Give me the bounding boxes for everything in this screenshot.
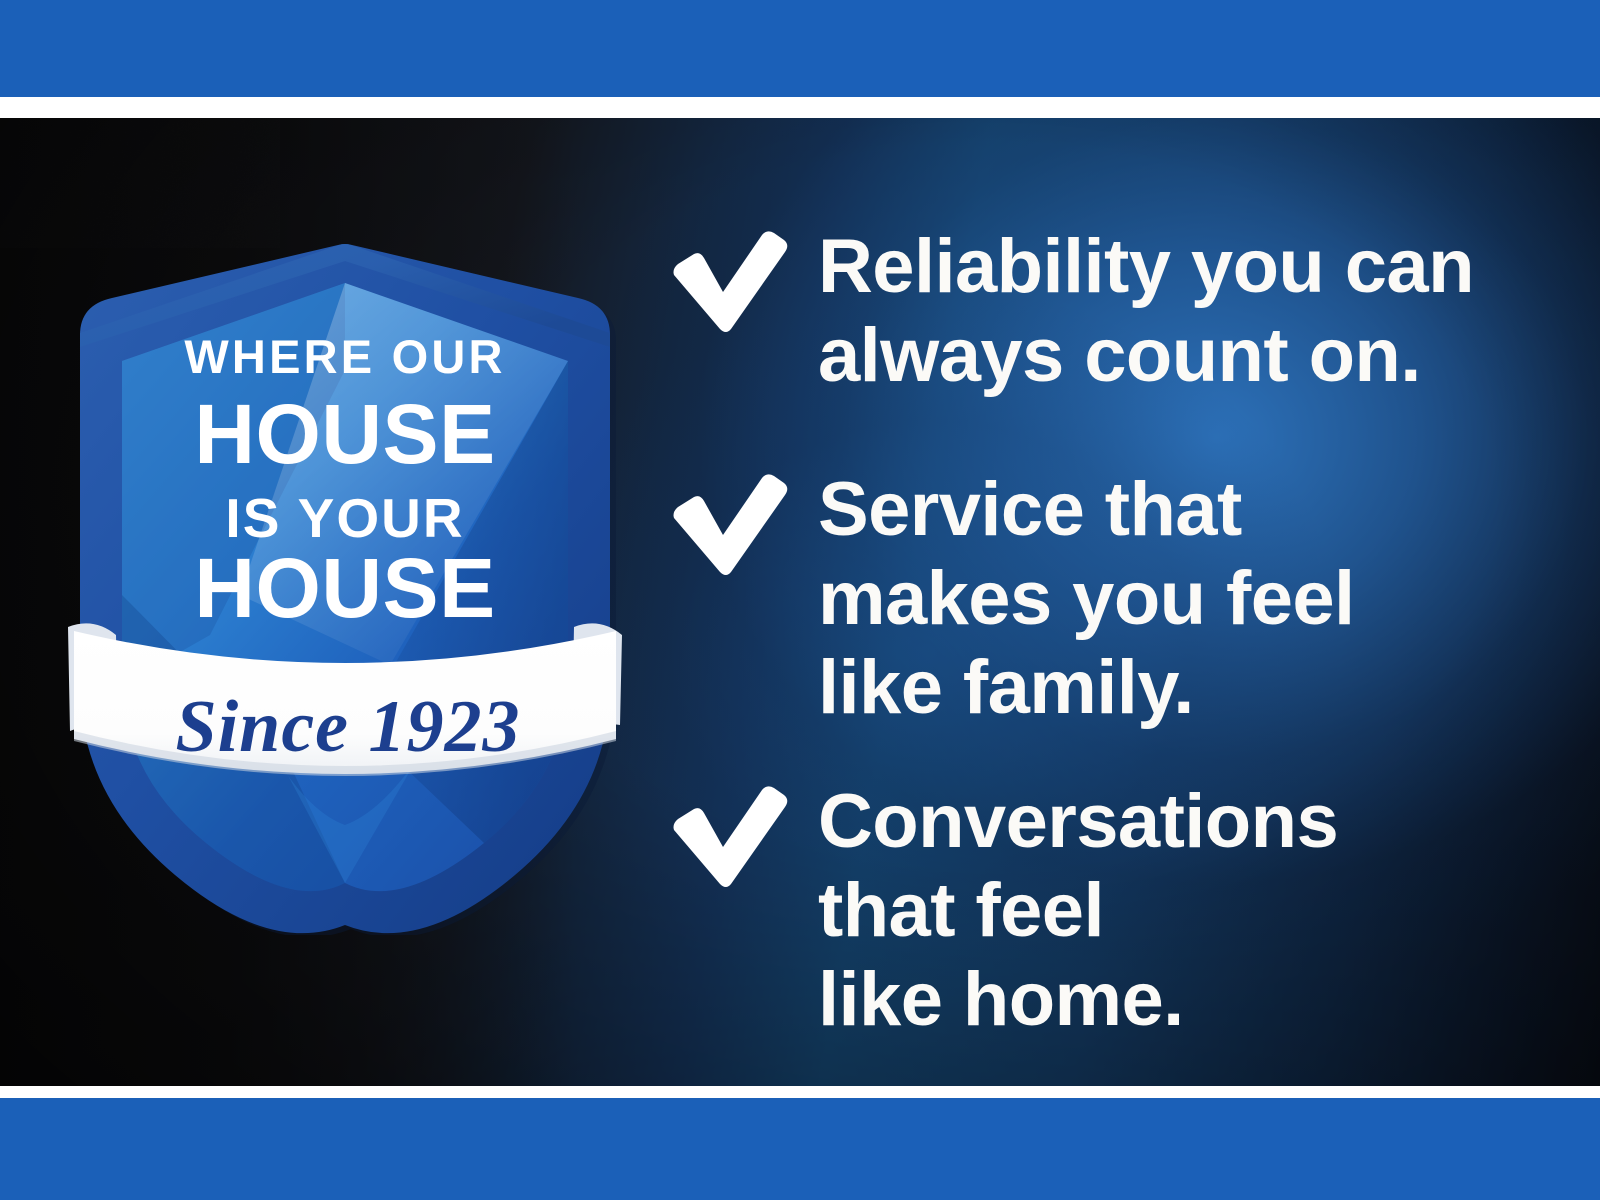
bottom-white-rule: [0, 1086, 1600, 1098]
checkmark-icon: [668, 778, 818, 888]
badge-line-1: WHERE OUR: [184, 330, 505, 383]
top-brand-bar: [0, 0, 1600, 97]
benefit-item-conversations: Conversations that feel like home.: [668, 778, 1548, 1045]
bottom-brand-bar: [0, 1098, 1600, 1200]
checkmark-icon: [668, 466, 818, 576]
benefit-text: Conversations that feel like home.: [818, 778, 1548, 1045]
ribbon-since-text: Since 1923: [175, 686, 520, 768]
checkmark-icon: [668, 223, 818, 333]
promo-graphic: WHERE OUR HOUSE IS YOUR HOUSE Since 1923: [0, 0, 1600, 1200]
benefits-checklist: Reliability you can always count on. Ser…: [668, 118, 1548, 1086]
benefit-text: Service that makes you feel like family.: [818, 466, 1548, 733]
badge-line-3: IS YOUR: [225, 487, 464, 549]
badge-line-2: HOUSE: [194, 387, 495, 481]
benefit-item-service: Service that makes you feel like family.: [668, 466, 1548, 733]
shield-badge: WHERE OUR HOUSE IS YOUR HOUSE Since 1923: [60, 165, 630, 935]
top-white-rule: [0, 97, 1600, 118]
benefit-item-reliability: Reliability you can always count on.: [668, 223, 1548, 401]
badge-line-4: HOUSE: [194, 541, 495, 635]
benefit-text: Reliability you can always count on.: [818, 223, 1548, 401]
